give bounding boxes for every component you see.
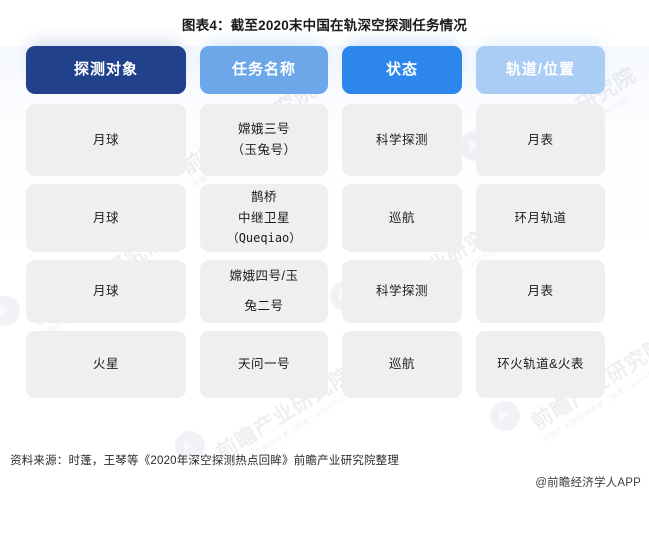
cell-mission-line: 鹊桥 <box>227 187 302 208</box>
table-row: 月球 嫦娥三号 （玉兔号） 科学探测 月表 <box>26 104 623 176</box>
table-container: 前瞻产业研究院 中国产业咨询领导者（股票：839599） 前瞻产业研究院 中国产… <box>0 46 649 436</box>
cell-status: 科学探测 <box>342 104 462 176</box>
column-header-mission-name[interactable]: 任务名称 <box>200 46 328 94</box>
table-row: 月球 嫦娥四号/玉 兔二号 科学探测 月表 <box>26 260 623 323</box>
cell-mission-name: 鹊桥 中继卫星 （Queqiao） <box>200 184 328 252</box>
cell-status: 科学探测 <box>342 260 462 323</box>
cell-mission-name: 嫦娥四号/玉 兔二号 <box>200 260 328 323</box>
cell-mission-line: （玉兔号） <box>231 140 296 161</box>
watermark-logo <box>0 296 20 326</box>
table-row: 火星 天问一号 巡航 环火轨道&火表 <box>26 331 623 398</box>
column-header-orbit-position[interactable]: 轨道/位置 <box>476 46 605 94</box>
cell-status: 巡航 <box>342 331 462 398</box>
data-table: 探测对象 任务名称 状态 轨道/位置 月球 嫦娥三号 （玉兔号） 科学探测 月表… <box>26 46 623 406</box>
cell-orbit: 月表 <box>476 104 605 176</box>
page-title: 图表4：截至2020末中国在轨深空探测任务情况 <box>0 14 649 34</box>
source-note: 资料来源：时蓬，王琴等《2020年深空探测热点回眸》前瞻产业研究院整理 <box>10 452 399 468</box>
table-header-row: 探测对象 任务名称 状态 轨道/位置 <box>26 46 623 94</box>
table-row: 月球 鹊桥 中继卫星 （Queqiao） 巡航 环月轨道 <box>26 184 623 252</box>
cell-mission-name: 天问一号 <box>200 331 328 398</box>
cell-mission-name: 嫦娥三号 （玉兔号） <box>200 104 328 176</box>
cell-mission-line: 嫦娥四号/玉 <box>230 262 299 291</box>
cell-object: 月球 <box>26 184 186 252</box>
column-header-object[interactable]: 探测对象 <box>26 46 186 94</box>
app-attribution: @前瞻经济学人APP <box>535 474 641 490</box>
cell-mission-line: （Queqiao） <box>227 229 302 249</box>
cell-orbit: 环月轨道 <box>476 184 605 252</box>
cell-object: 月球 <box>26 260 186 323</box>
cell-status: 巡航 <box>342 184 462 252</box>
cell-mission-line: 嫦娥三号 <box>231 119 296 140</box>
cell-mission-line: 兔二号 <box>230 292 299 321</box>
cell-object: 火星 <box>26 331 186 398</box>
column-header-status[interactable]: 状态 <box>342 46 462 94</box>
cell-object: 月球 <box>26 104 186 176</box>
cell-mission-line: 中继卫星 <box>227 208 302 229</box>
cell-orbit: 环火轨道&火表 <box>476 331 605 398</box>
cell-orbit: 月表 <box>476 260 605 323</box>
